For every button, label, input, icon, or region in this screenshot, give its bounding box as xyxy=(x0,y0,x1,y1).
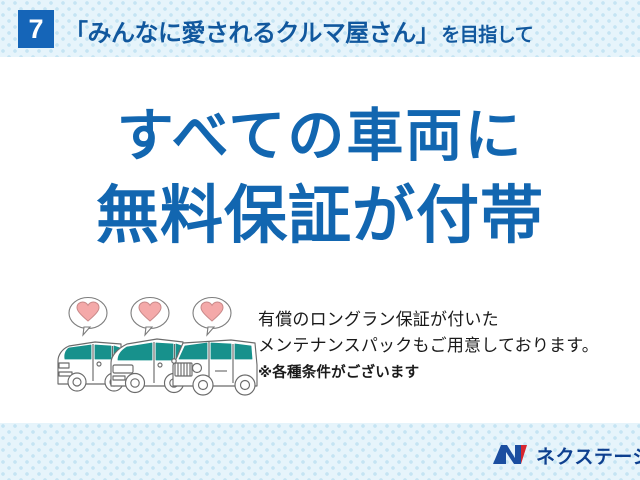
section-number-badge: 7 xyxy=(18,10,54,48)
cars-with-hearts-illustration xyxy=(55,293,260,398)
promo-banner: 7 「みんなに愛されるクルマ屋さん」 を目指して すべての車両に 無料保証が付帯 xyxy=(0,0,640,480)
nextage-n-mark-icon xyxy=(492,443,528,467)
body-copy-line-1: 有償のロングラン保証が付いた xyxy=(258,307,628,333)
header-title-quoted: 「みんなに愛されるクルマ屋さん」 xyxy=(64,13,439,48)
body-copy-line-2: メンテナンスパックもご用意しております。 xyxy=(258,333,628,359)
headline-line-2: 無料保証が付帯 xyxy=(0,181,640,251)
brand-logo: ネクステージ xyxy=(492,440,640,470)
headline-line-1: すべての車両に xyxy=(0,104,640,168)
brand-logo-text: ネクステージ xyxy=(536,442,640,469)
car-suv-wrangler xyxy=(172,340,257,395)
body-copy: 有償のロングラン保証が付いた メンテナンスパックもご用意しております。 ※各種条… xyxy=(258,307,628,384)
body-copy-note: ※各種条件がございます xyxy=(258,362,628,384)
header-title: 「みんなに愛されるクルマ屋さん」 を目指して xyxy=(64,13,533,45)
header-title-suffix: を目指して xyxy=(439,20,533,47)
